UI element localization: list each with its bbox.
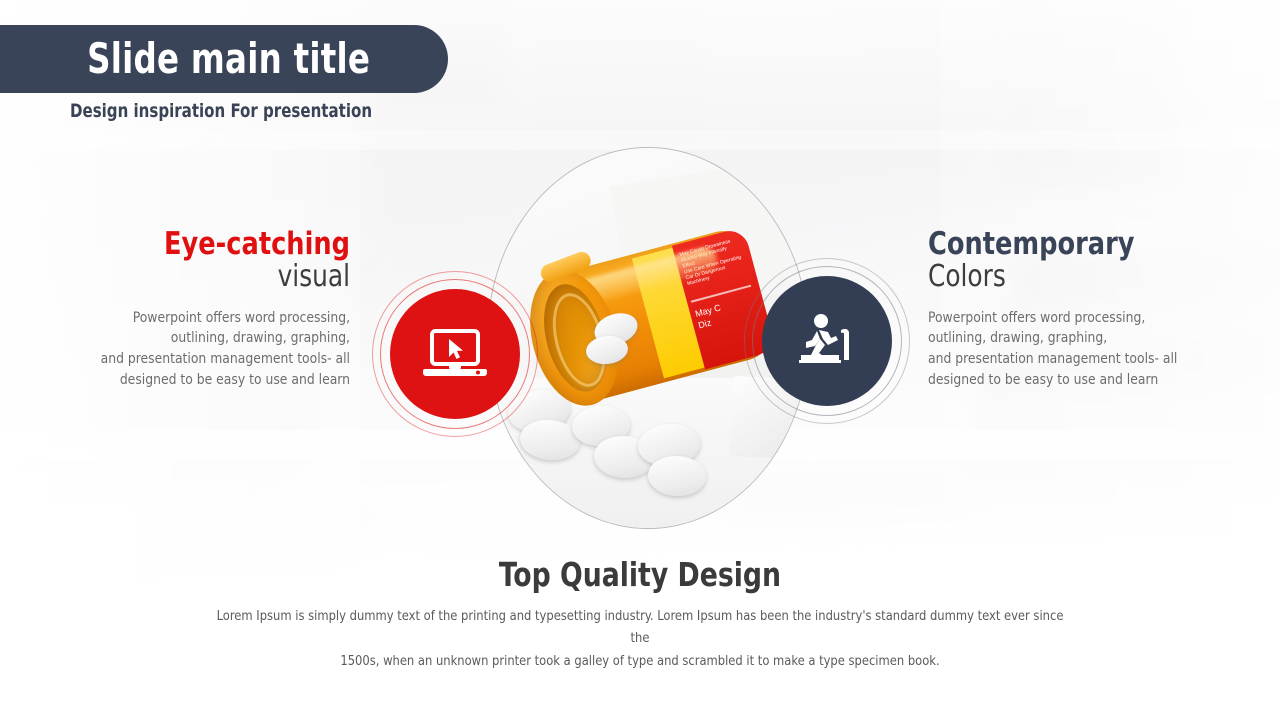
right-body-text: Powerpoint offers word processing, outli… — [928, 308, 1204, 390]
slide-title: Slide main title — [87, 38, 370, 80]
right-heading-light: Colors — [928, 260, 1195, 294]
slide-subtitle: Design inspiration For presentation — [70, 100, 372, 122]
left-body-line: outlining, drawing, graphing, — [75, 328, 351, 349]
right-body-line: designed to be easy to use and learn — [928, 370, 1204, 391]
bottom-body-line: Lorem Ipsum is simply dummy text of the … — [213, 605, 1068, 650]
right-heading-strong: Contemporary — [928, 228, 1195, 260]
right-body-line: Powerpoint offers word processing, — [928, 308, 1204, 329]
bottom-body-text: Lorem Ipsum is simply dummy text of the … — [213, 605, 1068, 672]
left-body-line: and presentation management tools- all — [75, 349, 351, 370]
right-body-line: and presentation management tools- all — [928, 349, 1204, 370]
left-heading-light: visual — [83, 260, 350, 294]
laptop-cursor-icon[interactable] — [390, 289, 520, 419]
left-icon-badge[interactable] — [372, 271, 538, 437]
right-icon-badge[interactable] — [744, 258, 910, 424]
left-body-line: designed to be easy to use and learn — [75, 370, 351, 391]
left-heading-strong: Eye-catching — [83, 228, 350, 260]
left-text-column: Eye-catching visual Powerpoint offers wo… — [60, 228, 350, 390]
bottom-body-line: 1500s, when an unknown printer took a ga… — [213, 650, 1068, 672]
left-body-line: Powerpoint offers word processing, — [75, 308, 351, 329]
bottom-title: Top Quality Design — [64, 558, 1216, 591]
right-body-line: outlining, drawing, graphing, — [928, 328, 1204, 349]
bottom-section: Top Quality Design Lorem Ipsum is simply… — [0, 558, 1280, 672]
treadmill-runner-icon[interactable] — [762, 276, 892, 406]
left-body-text: Powerpoint offers word processing, outli… — [75, 308, 351, 390]
slide-canvas: Slide main title Design inspiration For … — [0, 0, 1280, 720]
right-text-column: Contemporary Colors Powerpoint offers wo… — [928, 228, 1218, 390]
title-bar: Slide main title — [0, 25, 448, 93]
